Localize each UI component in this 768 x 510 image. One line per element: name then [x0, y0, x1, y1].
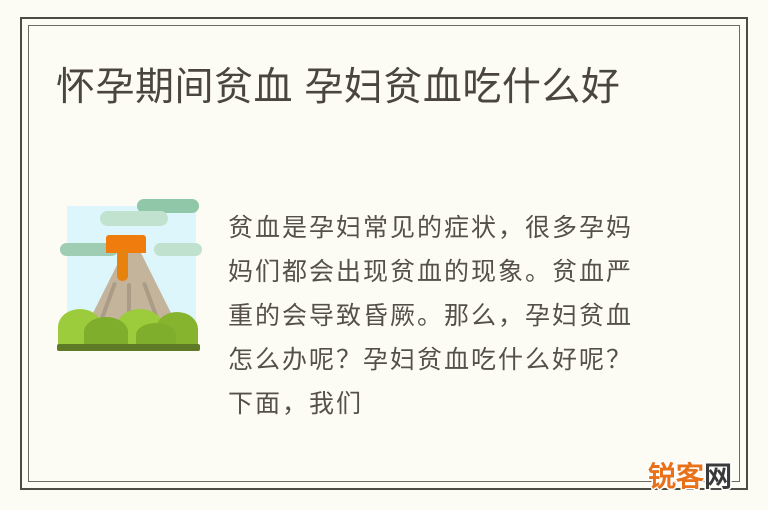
- page-title: 怀孕期间贫血 孕妇贫血吃什么好: [56, 61, 706, 115]
- bush-shape: [84, 317, 128, 347]
- ground-line: [57, 344, 200, 351]
- site-watermark: 锐客网: [648, 461, 732, 493]
- lava-drip: [117, 249, 128, 281]
- cloud-icon: [100, 211, 168, 226]
- watermark-secondary-text: 网: [704, 460, 732, 493]
- article-body: 贫血是孕妇常见的症状，很多孕妈妈们都会出现贫血的现象。贫血严重的会导致昏厥。那么…: [228, 206, 648, 426]
- watermark-primary-text: 锐客: [648, 460, 704, 493]
- cloud-icon: [154, 243, 202, 256]
- page-root: 怀孕期间贫血 孕妇贫血吃什么好 贫血是孕妇常见的症状，很多孕妈妈们都会出现贫血的…: [0, 0, 768, 510]
- volcano-illustration: [56, 197, 208, 362]
